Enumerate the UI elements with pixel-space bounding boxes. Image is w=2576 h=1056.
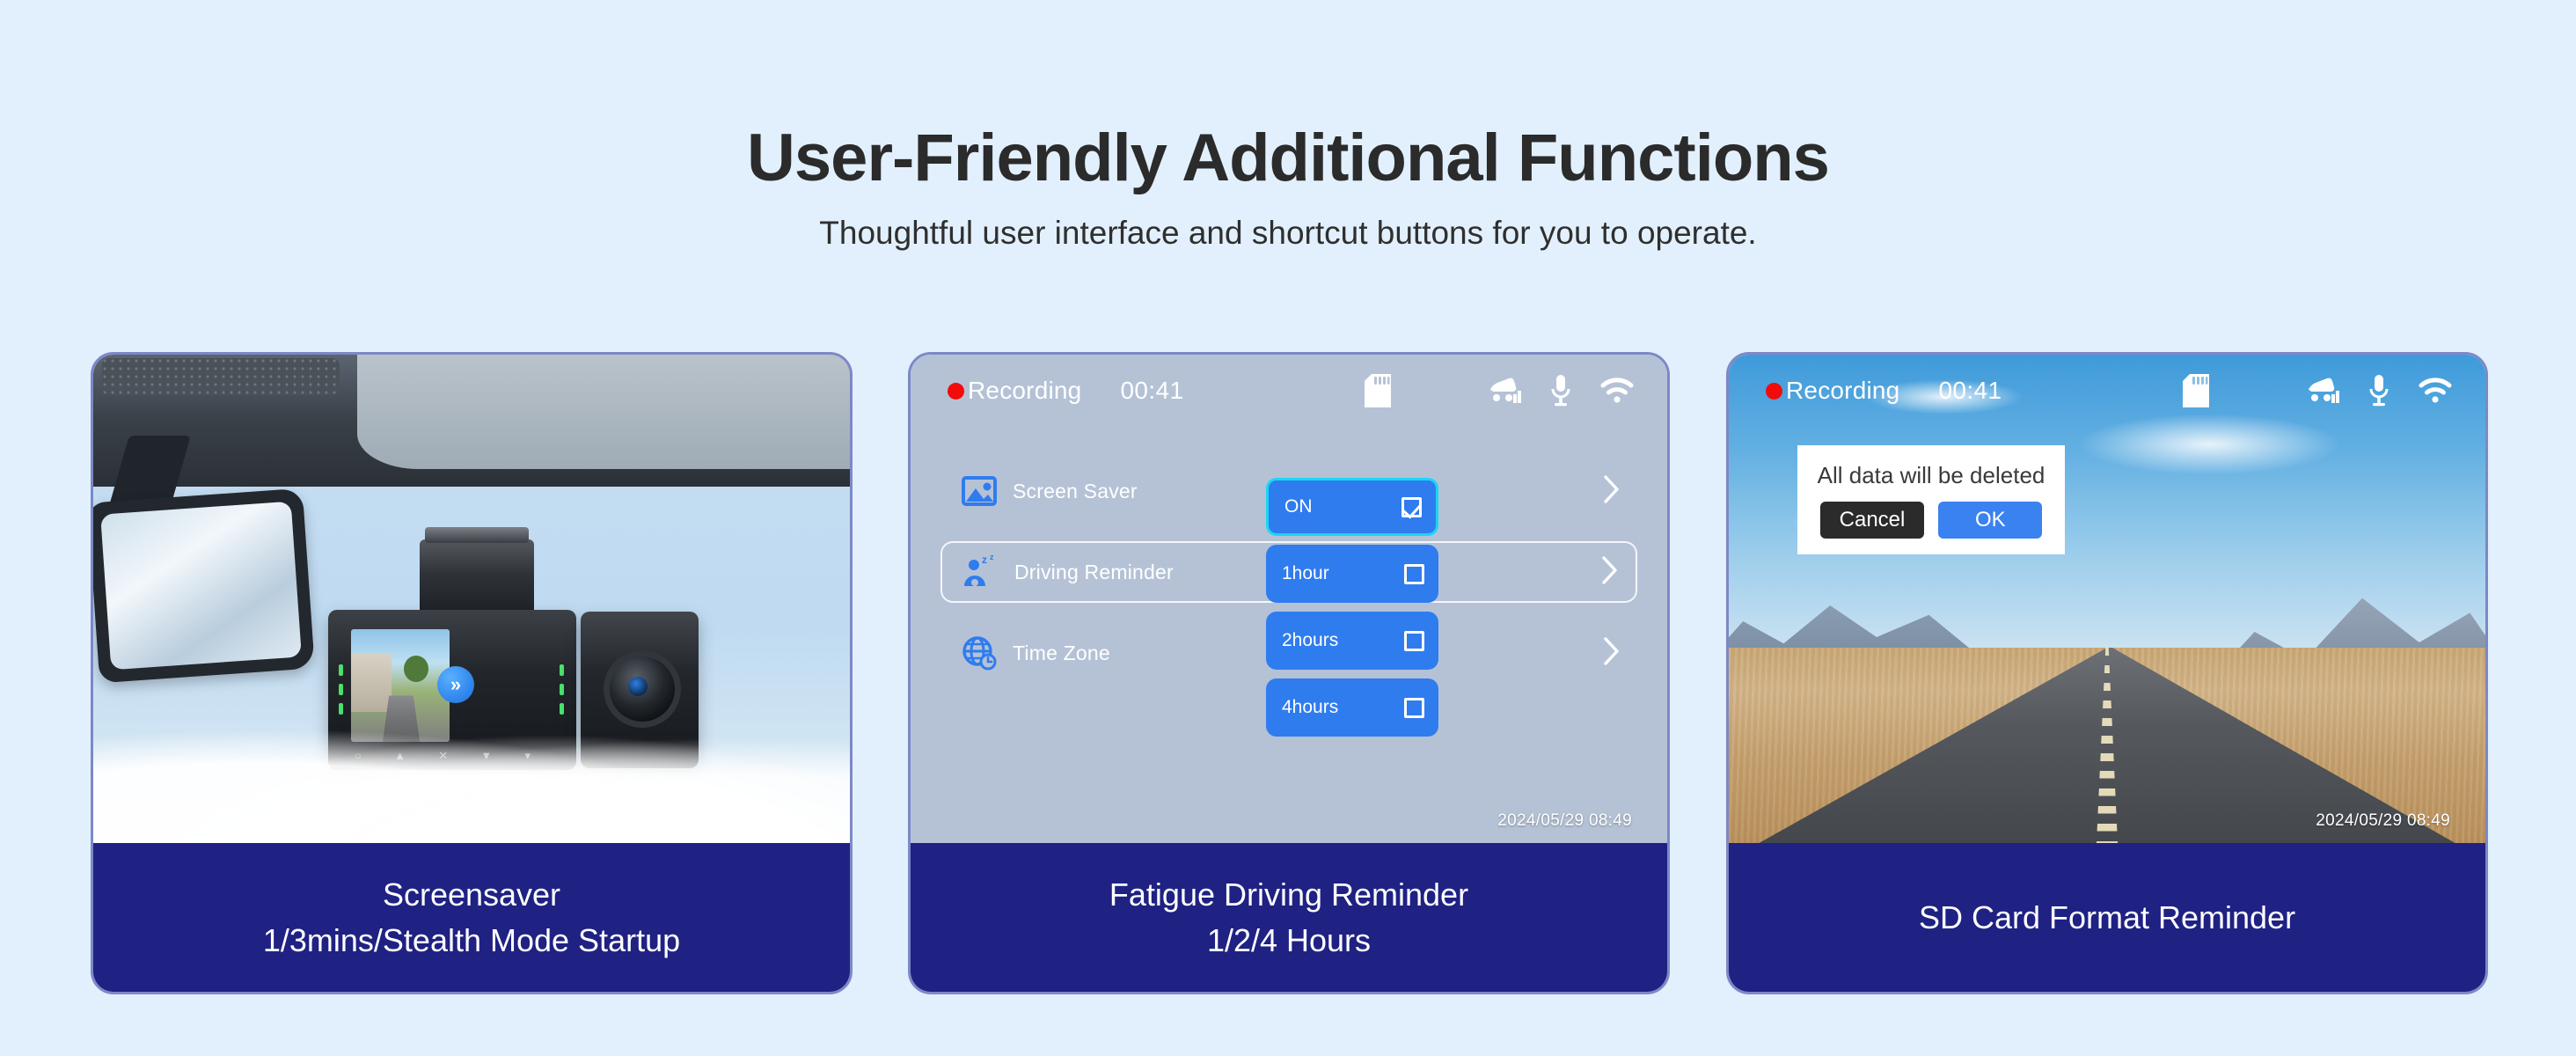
recording-label: Recording: [968, 377, 1081, 405]
dialog-message: All data will be deleted: [1818, 462, 2045, 489]
cancel-button[interactable]: Cancel: [1820, 502, 1925, 539]
page-header: User-Friendly Additional Functions Thoug…: [0, 0, 2576, 252]
option-4hours[interactable]: 4hours: [1266, 678, 1438, 737]
desert-highway-photo: [1729, 355, 2485, 843]
chevron-right-icon[interactable]: [1602, 473, 1621, 510]
microphone-icon: [2369, 375, 2389, 407]
menu-label-driving-reminder: Driving Reminder: [1014, 561, 1174, 584]
checkbox-icon[interactable]: [1404, 564, 1424, 584]
dashcam-mount-bracket: [420, 539, 534, 615]
mirror-glass: [100, 502, 302, 671]
ok-button[interactable]: OK: [1938, 502, 2042, 539]
recording-label: Recording: [1786, 377, 1899, 405]
rearview-mirror: [93, 488, 315, 684]
card-road-screen: Recording 00:41: [1729, 355, 2485, 843]
card-caption-sd-format-reminder: SD Card Format Reminder: [1729, 843, 2485, 992]
caption-line-1: Fatigue Driving Reminder: [1109, 872, 1468, 917]
headliner-panel: [357, 355, 850, 469]
wifi-icon: [1600, 378, 1634, 404]
feature-card-fatigue-reminder[interactable]: Recording 00:41: [908, 352, 1670, 994]
page-subtitle: Thoughtful user interface and shortcut b…: [0, 215, 2576, 252]
recording-timer: 00:41: [1938, 377, 2002, 405]
caption-line-2: 1/2/4 Hours: [1207, 918, 1371, 963]
status-bar: Recording 00:41: [1729, 374, 2485, 407]
option-1hour[interactable]: 1hour: [1266, 545, 1438, 603]
recording-indicator-dot: [1766, 383, 1782, 400]
card-caption-fatigue-reminder: Fatigue Driving Reminder 1/2/4 Hours: [911, 843, 1667, 992]
option-2hours[interactable]: 2hours: [1266, 612, 1438, 670]
option-label-4hours: 4hours: [1282, 697, 1338, 718]
status-icon-group: [1365, 374, 1634, 407]
dashcam-photo: » ○ ▲ ✕ ▼ ▾: [93, 355, 850, 843]
sd-card-icon: [1365, 374, 1391, 407]
status-bar: Recording 00:41: [911, 374, 1667, 407]
recording-timer: 00:41: [1120, 377, 1183, 405]
card-settings-screen: Recording 00:41: [911, 355, 1667, 843]
recording-indicator-dot: [948, 383, 964, 400]
option-label-2hours: 2hours: [1282, 630, 1338, 651]
card-screensaver-artwork: » ○ ▲ ✕ ▼ ▾: [93, 355, 850, 843]
screen-timestamp: 2024/05/29 08:49: [1497, 811, 1632, 831]
format-confirm-dialog: All data will be deleted Cancel OK: [1797, 445, 2065, 554]
display-building: [351, 654, 392, 712]
status-icon-group: [2183, 374, 2452, 407]
caption-line-1: SD Card Format Reminder: [1919, 895, 2295, 940]
checkbox-checked-icon[interactable]: [1401, 497, 1422, 517]
feature-card-sd-format-reminder[interactable]: Recording 00:41: [1726, 352, 2488, 994]
feature-cards-row: » ○ ▲ ✕ ▼ ▾: [0, 352, 2576, 1003]
collision-sensor-icon: [2306, 377, 2339, 405]
page-title: User-Friendly Additional Functions: [0, 123, 2576, 194]
option-label-on: ON: [1284, 496, 1313, 517]
reminder-interval-options: ON 1hour 2hours 4hours: [1266, 478, 1438, 745]
screen-timestamp: 2024/05/29 08:49: [2316, 811, 2450, 831]
option-label-1hour: 1hour: [1282, 563, 1329, 584]
caption-line-1: Screensaver: [383, 872, 560, 917]
sd-card-icon: [2183, 374, 2209, 407]
menu-label-time-zone: Time Zone: [1013, 642, 1110, 665]
card-caption-screensaver: Screensaver 1/3mins/Stealth Mode Startup: [93, 843, 850, 992]
chevron-right-icon[interactable]: [1602, 635, 1621, 671]
dialog-action-row: Cancel OK: [1820, 502, 2043, 539]
svg-text:z: z: [982, 554, 987, 566]
caption-line-2: 1/3mins/Stealth Mode Startup: [263, 918, 680, 963]
speaker-grille: [102, 358, 340, 395]
option-on[interactable]: ON: [1266, 478, 1438, 536]
display-tree: [404, 656, 428, 682]
globe-clock-icon: [960, 634, 999, 672]
collision-sensor-icon: [1488, 377, 1521, 405]
svg-text:z: z: [990, 553, 994, 561]
sleepy-driver-icon: zz: [962, 553, 1000, 591]
feature-card-screensaver[interactable]: » ○ ▲ ✕ ▼ ▾: [91, 352, 853, 994]
cloud-1: [2077, 414, 2341, 475]
menu-label-screen-saver: Screen Saver: [1013, 480, 1138, 503]
checkbox-icon[interactable]: [1404, 631, 1424, 651]
wifi-icon: [2419, 378, 2452, 404]
sky-clouds: [93, 711, 850, 843]
microphone-icon: [1551, 375, 1570, 407]
checkbox-icon[interactable]: [1404, 698, 1424, 718]
image-icon: [960, 472, 999, 510]
chevron-badge-icon: »: [437, 666, 474, 703]
chevron-right-icon[interactable]: [1600, 554, 1620, 590]
